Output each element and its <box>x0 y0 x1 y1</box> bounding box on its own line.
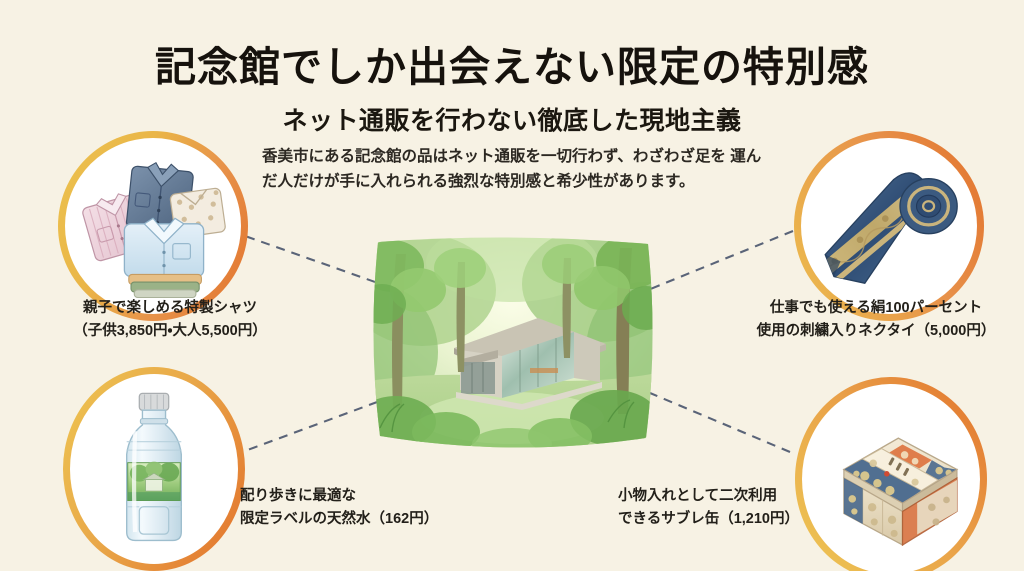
product-badge-water[interactable] <box>63 367 245 571</box>
caption-sable-tin: 小物入れとして二次利用 できるサブレ缶（1,210円） <box>618 485 868 531</box>
folded-dress-shirts-icon <box>65 138 241 314</box>
sable-cookie-tin-icon <box>802 384 980 571</box>
caption-water: 配り歩きに最適な 限定ラベルの天然水（162円） <box>240 485 500 531</box>
product-badge-sable-tin[interactable] <box>795 377 987 571</box>
connector-necktie <box>648 231 793 290</box>
caption-necktie: 仕事でも使える絹100パーセント 使用の刺繍入りネクタイ（5,000円） <box>742 297 1010 343</box>
product-badge-necktie[interactable] <box>794 131 984 321</box>
caption-shirts-line-2: （子供3,850円・大人5,500円） <box>45 320 295 343</box>
museum-illustration <box>362 232 662 460</box>
product-badge-shirts[interactable] <box>58 131 248 321</box>
caption-necktie-line-1: 仕事でも使える絹100パーセント <box>742 297 1010 320</box>
infographic-slide: 記念館でしか出会えない限定の特別感 ネット通販を行わない徹底した現地主義 香美市… <box>0 0 1024 571</box>
caption-sable-tin-line-2: できるサブレ缶（1,210円） <box>618 508 868 531</box>
caption-shirts: 親子で楽しめる特製シャツ （子供3,850円・大人5,500円） <box>45 297 295 343</box>
caption-shirts-line-1: 親子で楽しめる特製シャツ <box>45 297 295 320</box>
connector-tin <box>650 393 790 452</box>
lede-line-1: 香美市にある記念館の品はネット通販を一切行わず、わざわざ足を <box>262 148 726 165</box>
caption-water-line-2: 限定ラベルの天然水（162円） <box>240 508 500 531</box>
caption-necktie-line-2: 使用の刺繍入りネクタイ（5,000円） <box>742 320 1010 343</box>
caption-sable-tin-line-1: 小物入れとして二次利用 <box>618 485 868 508</box>
water-bottle-icon <box>70 374 238 564</box>
silk-necktie-icon <box>801 138 977 314</box>
page-title: 記念館でしか出会えない限定の特別感 <box>0 33 1024 93</box>
lede-paragraph: 香美市にある記念館の品はネット通販を一切行わず、わざわざ足を 運んだ人だけが手に… <box>262 144 762 194</box>
caption-water-line-1: 配り歩きに最適な <box>240 485 500 508</box>
